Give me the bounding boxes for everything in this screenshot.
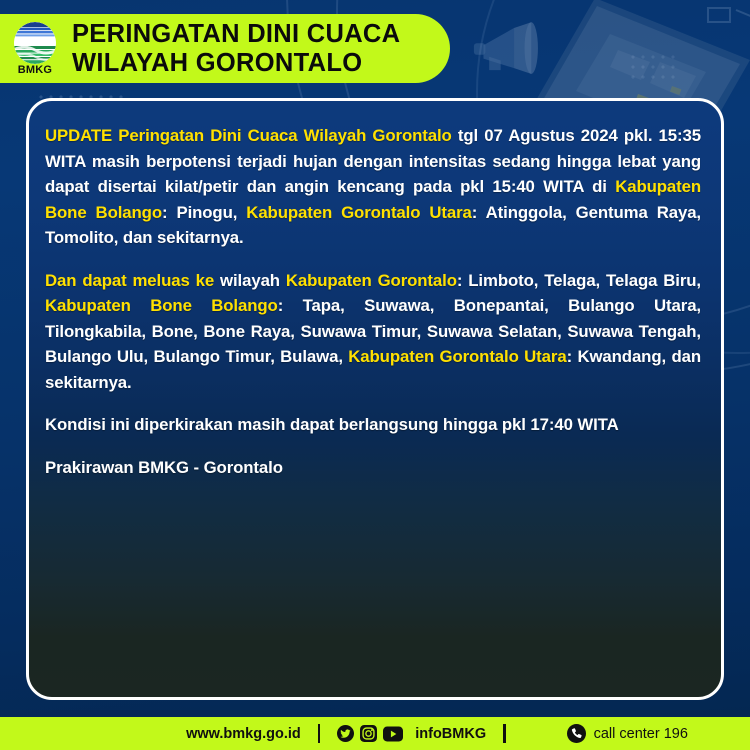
text-segment: : Pinogu, xyxy=(162,203,246,222)
bmkg-logo-text: BMKG xyxy=(18,65,52,76)
header-title-group: PERINGATAN DINI CUACA WILAYAH GORONTALO xyxy=(72,21,400,76)
warning-paragraph-1: UPDATE Peringatan Dini Cuaca Wilayah Gor… xyxy=(45,123,701,251)
bmkg-logo-circle xyxy=(14,22,56,64)
warning-content-card: UPDATE Peringatan Dini Cuaca Wilayah Gor… xyxy=(26,98,724,700)
twitter-icon[interactable] xyxy=(337,725,354,742)
decorative-dot-grid-2 xyxy=(628,52,680,82)
footer-call-center-group: call center 196 xyxy=(567,724,688,743)
header-banner: BMKG PERINGATAN DINI CUACA WILAYAH GORON… xyxy=(0,14,450,83)
highlighted-text-segment: Dan dapat meluas ke xyxy=(45,271,220,290)
footer-website[interactable]: www.bmkg.go.id xyxy=(186,726,301,742)
footer-social-handle[interactable]: infoBMKG xyxy=(415,726,486,742)
phone-icon[interactable] xyxy=(567,724,586,743)
megaphone-icon xyxy=(472,20,558,80)
weather-warning-poster: BMKG PERINGATAN DINI CUACA WILAYAH GORON… xyxy=(0,0,750,750)
highlighted-text-segment: Kabupaten Gorontalo xyxy=(286,271,457,290)
youtube-icon[interactable] xyxy=(383,726,403,742)
warning-duration-note: Kondisi ini diperkirakan masih dapat ber… xyxy=(45,412,701,438)
instagram-icon[interactable] xyxy=(360,725,377,742)
footer-separator-1 xyxy=(318,724,321,743)
footer-call-center-text[interactable]: call center 196 xyxy=(594,726,688,742)
footer-separator-2 xyxy=(503,724,506,743)
warning-paragraph-2: Dan dapat meluas ke wilayah Kabupaten Go… xyxy=(45,268,701,396)
forecaster-signature: Prakirawan BMKG - Gorontalo xyxy=(45,455,701,481)
footer-bar: www.bmkg.go.id infoBMKG call cent xyxy=(0,717,750,750)
highlighted-text-segment: Kabupaten Gorontalo Utara xyxy=(348,347,566,366)
text-segment: : Limboto, Telaga, Telaga Biru, xyxy=(457,271,701,290)
page-title-line1: PERINGATAN DINI CUACA xyxy=(72,21,400,48)
page-title-line2: WILAYAH GORONTALO xyxy=(72,50,400,77)
highlighted-text-segment: UPDATE Peringatan Dini Cuaca Wilayah Gor… xyxy=(45,126,458,145)
bmkg-logo: BMKG xyxy=(10,20,60,78)
footer-social-group: infoBMKG xyxy=(337,725,486,742)
highlighted-text-segment: Kabupaten Bone Bolango xyxy=(45,296,278,315)
bmkg-emblem-icon xyxy=(14,22,56,64)
highlighted-text-segment: Kabupaten Gorontalo Utara xyxy=(246,203,471,222)
text-segment: wilayah xyxy=(220,271,286,290)
